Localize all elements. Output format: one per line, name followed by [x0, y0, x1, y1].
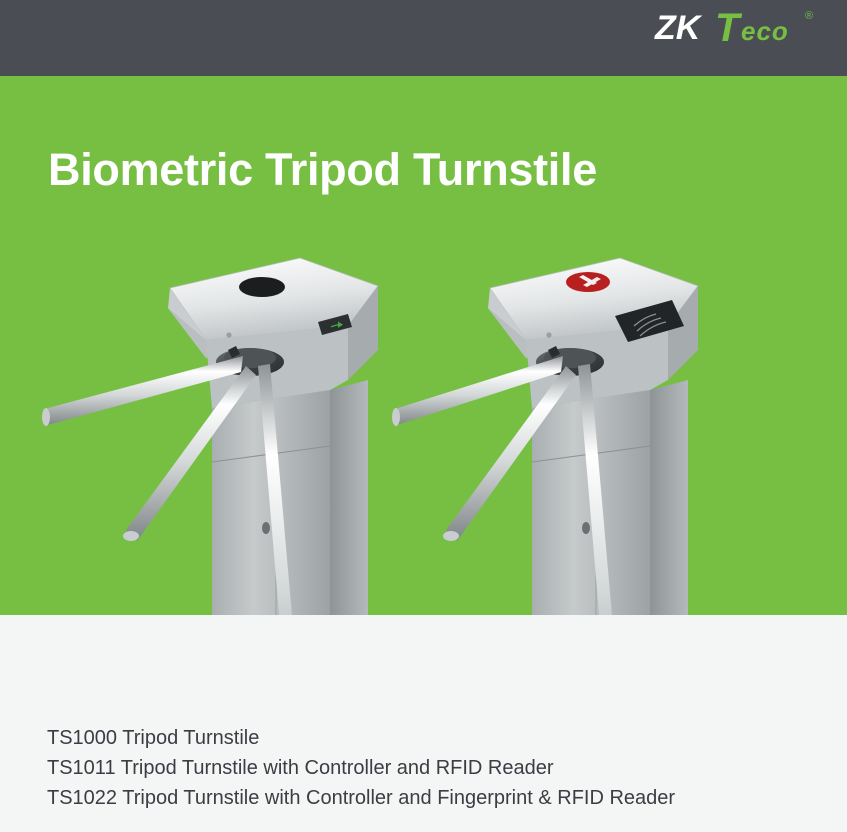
page-footer: TS1000 Tripod Turnstile TS1011 Tripod Tu…	[0, 615, 847, 832]
brochure-page: ZK T eco ® Biometric Tripod Turnstile	[0, 0, 847, 832]
logo-text-zk: ZK	[654, 9, 703, 47]
list-item: TS1022 Tripod Turnstile with Controller …	[47, 783, 675, 813]
logo-text-eco: eco	[741, 16, 789, 46]
list-item: TS1000 Tripod Turnstile	[47, 723, 675, 753]
page-header: ZK T eco ®	[0, 0, 847, 76]
logo-trademark-icon: ®	[805, 10, 813, 22]
product-model-list: TS1000 Tripod Turnstile TS1011 Tripod Tu…	[47, 723, 675, 813]
list-item: TS1011 Tripod Turnstile with Controller …	[47, 753, 675, 783]
page-title: Biometric Tripod Turnstile	[48, 144, 597, 196]
hero-panel: Biometric Tripod Turnstile	[0, 76, 847, 615]
logo-text-t: T	[715, 6, 743, 50]
zkteco-logo: ZK T eco ®	[653, 6, 833, 52]
